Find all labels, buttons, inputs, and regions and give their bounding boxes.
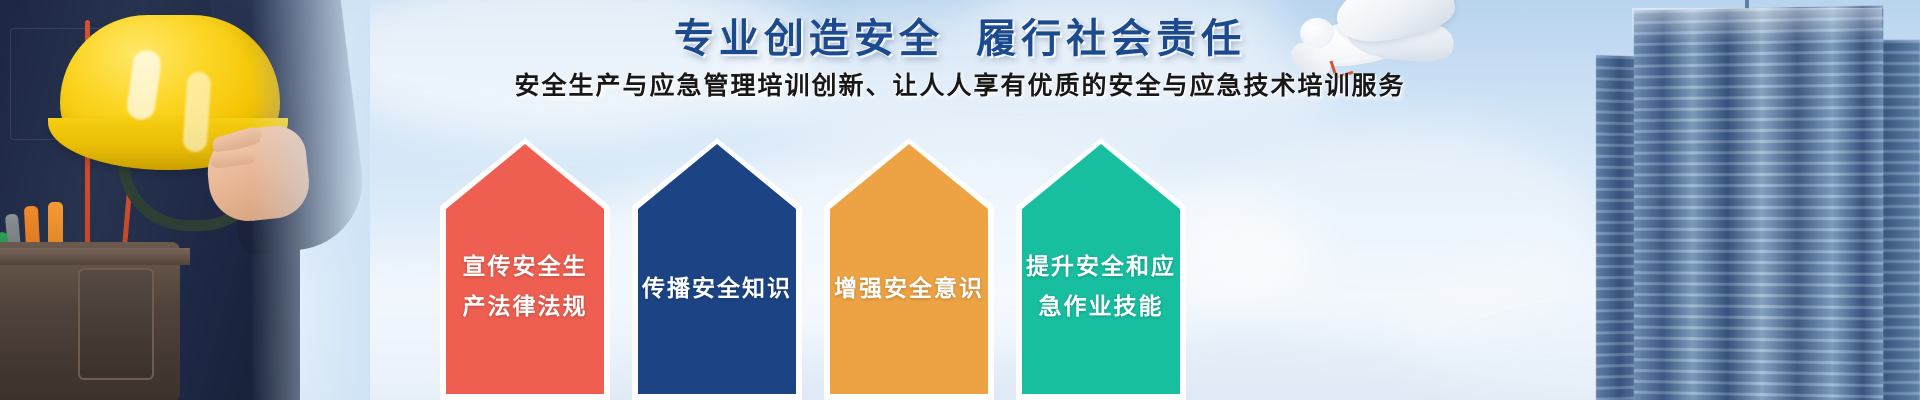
feature-hexagon-2[interactable]: 传播安全知识 (632, 138, 802, 400)
dove-head (1300, 18, 1334, 48)
construction-worker-photo (0, 0, 340, 400)
feature-hexagon-3-label: 增强安全意识 (834, 268, 984, 308)
toolbelt-strap (0, 248, 190, 265)
feature-hexagon-4-label: 提升安全和应 急作业技能 (1026, 246, 1176, 327)
flying-dove-photo (1276, 0, 1466, 104)
feature-hexagon-4[interactable]: 提升安全和应 急作业技能 (1016, 138, 1186, 400)
feature-hexagon-1[interactable]: 宣传安全生 产法律法规 (440, 138, 610, 400)
tower-cap-highlight (1632, 8, 1882, 44)
cloud-decoration (300, 0, 820, 140)
feature-hexagon-3[interactable]: 增强安全意识 (824, 138, 994, 400)
toolbelt-pouch (78, 268, 154, 380)
office-skyscraper-photo (1590, 0, 1920, 400)
feature-hexagon-1-label: 宣传安全生 产法律法规 (463, 246, 588, 327)
feature-hexagon-row: 宣传安全生 产法律法规 传播安全知识 增强安全意识 提升安全和应 急作业技能 (440, 138, 1440, 400)
banner-subtitle: 安全生产与应急管理培训创新、让人人享有优质的安全与应急技术培训服务 (514, 66, 1405, 102)
banner-title: 专业创造安全 履行社会责任 (674, 6, 1246, 64)
cloud-decoration (980, 0, 1280, 80)
tower-main-body (1634, 5, 1883, 400)
feature-hexagon-2-label: 传播安全知识 (642, 268, 792, 308)
photo-edge-fade (250, 0, 370, 400)
safety-training-banner: 专业创造安全 履行社会责任 安全生产与应急管理培训创新、让人人享有优质的安全与应… (0, 0, 1920, 400)
